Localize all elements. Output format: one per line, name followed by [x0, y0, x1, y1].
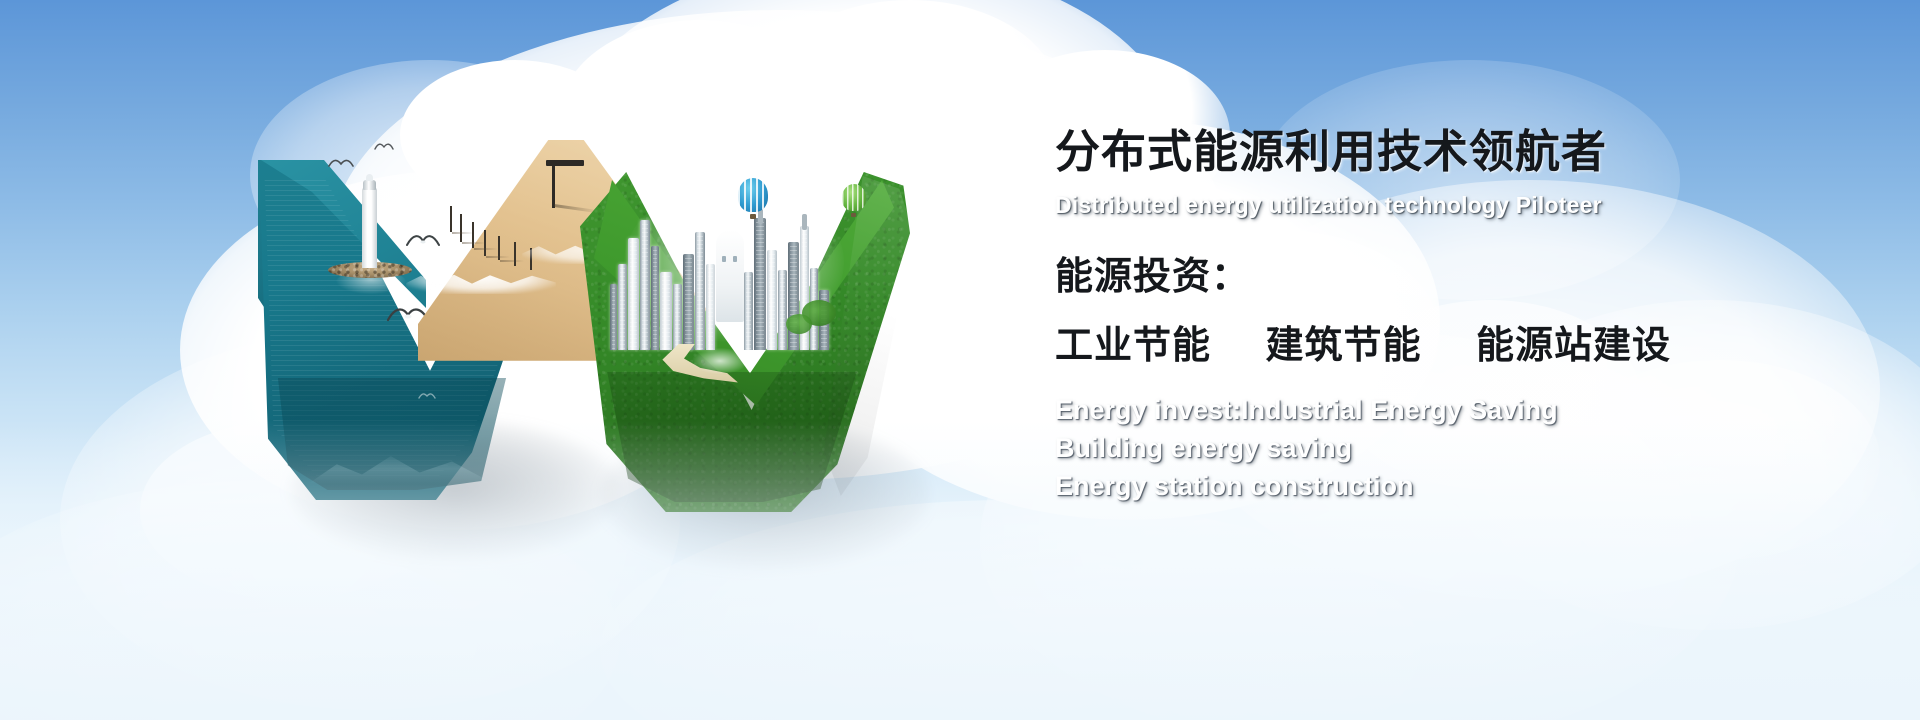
- building: [683, 254, 694, 350]
- hero-banner: 分布式能源利用技术领航者 Distributed energy utilizat…: [0, 0, 1920, 720]
- building: [651, 246, 659, 350]
- window: [733, 256, 737, 262]
- seagull-icon: [328, 158, 354, 170]
- fence-shadow: [500, 260, 524, 262]
- building-mast: [802, 214, 807, 230]
- window: [722, 256, 726, 262]
- hot-air-balloon-icon: [738, 178, 768, 220]
- building: [673, 284, 682, 350]
- fence-shadow: [462, 242, 486, 244]
- hot-air-balloon-icon: [842, 184, 866, 218]
- signpost-pole: [552, 164, 555, 208]
- services-english: Energy invest:Industrial Energy Saving B…: [1055, 391, 1875, 506]
- building: [754, 218, 766, 350]
- domed-building: [716, 230, 744, 322]
- building: [767, 250, 777, 350]
- balloon-envelope: [738, 178, 768, 212]
- balloon-basket: [750, 214, 756, 219]
- service-station-cn: 能源站建设: [1476, 314, 1671, 369]
- building: [618, 264, 627, 350]
- balloon-basket: [851, 213, 856, 217]
- fence-shadow: [474, 248, 498, 250]
- service-line-1-en: Energy invest:Industrial Energy Saving: [1055, 391, 1875, 429]
- subtitle-english: Distributed energy utilization technolog…: [1055, 192, 1875, 219]
- building: [706, 264, 715, 350]
- service-industrial-cn: 工业节能: [1055, 314, 1211, 369]
- seagull-icon: [374, 142, 394, 152]
- service-line-2-en: Building energy saving: [1055, 429, 1875, 467]
- section-label-chinese: 能源投资：: [1055, 245, 1875, 300]
- headline-chinese: 分布式能源利用技术领航者: [1055, 128, 1875, 176]
- services-chinese: 工业节能 建筑节能 能源站建设: [1055, 314, 1875, 369]
- path-haze: [692, 348, 748, 374]
- building: [628, 238, 639, 350]
- fence-shadow: [452, 232, 474, 234]
- building: [660, 272, 672, 350]
- fence-shadow: [486, 256, 510, 258]
- lighthouse-lantern: [363, 180, 376, 190]
- bush: [786, 314, 812, 334]
- banner-copy: 分布式能源利用技术领航者 Distributed energy utilizat…: [1055, 128, 1875, 506]
- lighthouse-tower: [362, 188, 377, 268]
- building: [695, 232, 705, 350]
- building: [610, 284, 617, 350]
- service-line-3-en: Energy station construction: [1055, 467, 1875, 505]
- balloon-envelope: [842, 184, 866, 211]
- building: [778, 270, 787, 350]
- building: [744, 272, 753, 350]
- service-building-cn: 建筑节能: [1265, 314, 1421, 369]
- lighthouse-icon: [362, 174, 378, 284]
- building: [640, 220, 650, 350]
- lighthouse-dome: [366, 174, 373, 181]
